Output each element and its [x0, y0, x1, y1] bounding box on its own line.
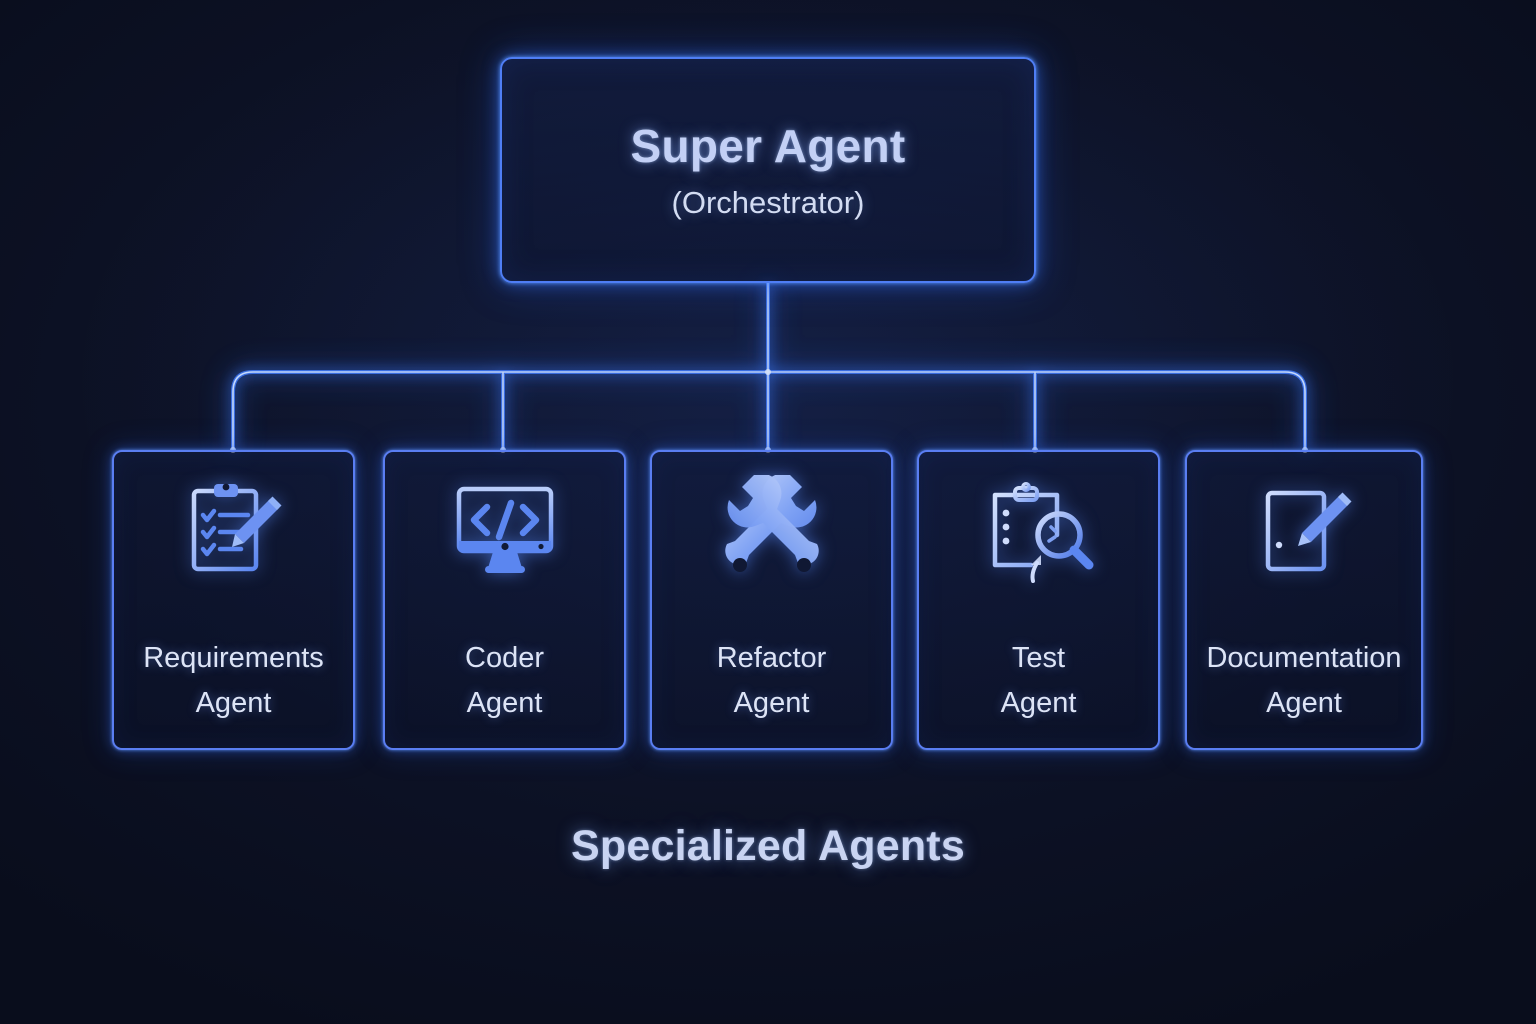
agent-card-refactor[interactable]: Refactor Agent [650, 450, 893, 750]
clipboard-checklist-pencil-icon [178, 456, 290, 606]
agent-card-documentation[interactable]: Documentation Agent [1185, 450, 1423, 750]
monitor-code-icon [447, 456, 563, 606]
agent-name: Refactor [717, 636, 827, 681]
super-agent-subtitle: (Orchestrator) [672, 185, 865, 221]
agent-name: Requirements [143, 636, 324, 681]
agent-name: Documentation [1206, 636, 1401, 681]
agent-card-label: Test Agent [1001, 606, 1077, 748]
crossed-wrenches-icon [716, 456, 828, 606]
agent-name: Test [1012, 636, 1065, 681]
agent-name: Coder [465, 636, 544, 681]
document-pencil-icon [1248, 456, 1360, 606]
agent-suffix: Agent [467, 681, 543, 726]
super-agent-box[interactable]: Super Agent (Orchestrator) [500, 57, 1036, 283]
agent-card-test[interactable]: Test Agent [917, 450, 1160, 750]
agent-card-label: Refactor Agent [717, 606, 827, 748]
agent-card-label: Coder Agent [465, 606, 544, 748]
agent-card-row: Requirements Agent [0, 450, 1536, 750]
specialized-agents-caption: Specialized Agents [0, 822, 1536, 871]
agent-suffix: Agent [1001, 681, 1077, 726]
super-agent-title: Super Agent [630, 119, 905, 173]
agent-suffix: Agent [196, 681, 272, 726]
agent-card-requirements[interactable]: Requirements Agent [112, 450, 355, 750]
agent-card-label: Documentation Agent [1206, 606, 1401, 748]
agent-card-coder[interactable]: Coder Agent [383, 450, 626, 750]
diagram-canvas: Super Agent (Orchestrator) [0, 0, 1536, 1024]
agent-card-label: Requirements Agent [143, 606, 324, 748]
agent-suffix: Agent [1266, 681, 1342, 726]
clipboard-magnifier-icon [981, 456, 1097, 606]
agent-suffix: Agent [734, 681, 810, 726]
